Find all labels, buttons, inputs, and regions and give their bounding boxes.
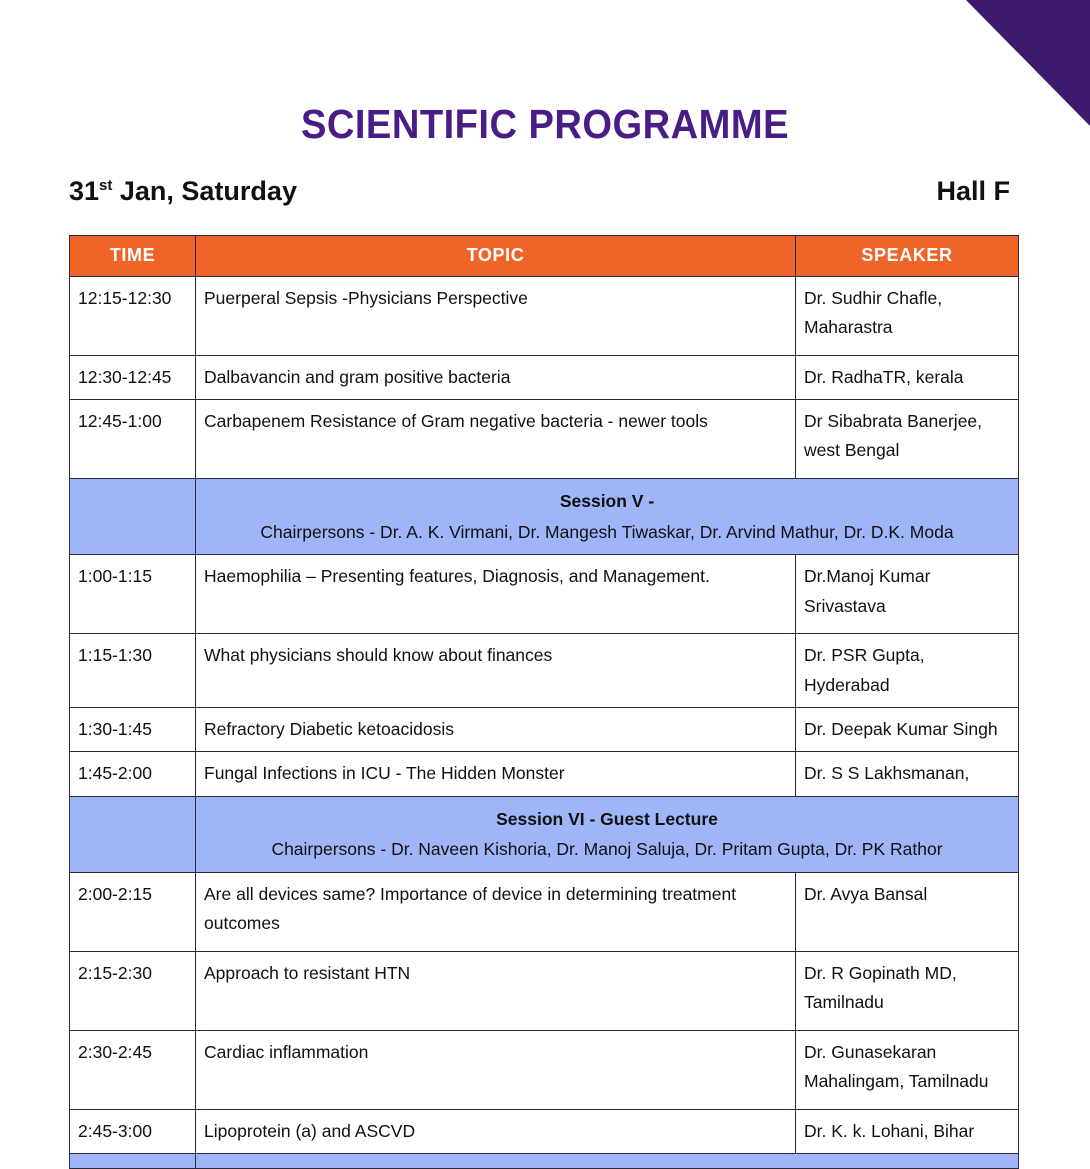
cell-speaker: Dr. Avya Bansal	[796, 873, 1019, 952]
table-row: 12:15-12:30 Puerperal Sepsis -Physicians…	[70, 276, 1019, 355]
table-row: 1:00-1:15 Haemophilia – Presenting featu…	[70, 555, 1019, 634]
session-banner-row-partial	[70, 1154, 1019, 1169]
scientific-programme-table: TIME TOPIC SPEAKER 12:15-12:30 Puerperal…	[69, 235, 1019, 1169]
cell-time: 2:30-2:45	[70, 1031, 196, 1110]
cell-time-empty	[70, 478, 196, 554]
cell-speaker: Dr. R Gopinath MD, Tamilnadu	[796, 952, 1019, 1031]
table-row: 1:45-2:00 Fungal Infections in ICU - The…	[70, 752, 1019, 796]
cell-topic: Haemophilia – Presenting features, Diagn…	[196, 555, 796, 634]
table-row: 2:30-2:45 Cardiac inflammation Dr. Gunas…	[70, 1031, 1019, 1110]
cell-speaker: Dr Sibabrata Banerjee, west Bengal	[796, 399, 1019, 478]
table-row: 12:45-1:00 Carbapenem Resistance of Gram…	[70, 399, 1019, 478]
table-body: 12:15-12:30 Puerperal Sepsis -Physicians…	[70, 276, 1019, 1169]
cell-topic: Cardiac inflammation	[196, 1031, 796, 1110]
subheader: 31st Jan, Saturday Hall F	[0, 148, 1090, 207]
session-title: Session V -	[204, 486, 1010, 517]
cell-topic: Are all devices same? Importance of devi…	[196, 873, 796, 952]
cell-time: 12:30-12:45	[70, 355, 196, 399]
cell-time: 1:45-2:00	[70, 752, 196, 796]
session-banner-row: Session V - Chairpersons - Dr. A. K. Vir…	[70, 478, 1019, 554]
hall-label: Hall F	[936, 176, 1010, 207]
cell-topic: Puerperal Sepsis -Physicians Perspective	[196, 276, 796, 355]
session-banner-partial	[196, 1154, 1019, 1169]
cell-speaker: Dr. S S Lakhsmanan,	[796, 752, 1019, 796]
session-banner: Session VI - Guest Lecture Chairpersons …	[196, 796, 1019, 872]
cell-speaker: Dr. Gunasekaran Mahalingam, Tamilnadu	[796, 1031, 1019, 1110]
cell-speaker: Dr. PSR Gupta, Hyderabad	[796, 634, 1019, 708]
table-row: 12:30-12:45 Dalbavancin and gram positiv…	[70, 355, 1019, 399]
cell-time: 1:30-1:45	[70, 708, 196, 752]
table-header-row: TIME TOPIC SPEAKER	[70, 236, 1019, 277]
cell-time: 2:00-2:15	[70, 873, 196, 952]
date-ordinal-suffix: st	[99, 177, 112, 194]
date-rest: Jan, Saturday	[112, 176, 297, 206]
date-day: 31	[69, 176, 99, 206]
table-row: 2:45-3:00 Lipoprotein (a) and ASCVD Dr. …	[70, 1110, 1019, 1154]
cell-time-empty	[70, 796, 196, 872]
cell-time: 2:15-2:30	[70, 952, 196, 1031]
cell-time: 1:00-1:15	[70, 555, 196, 634]
column-header-speaker: SPEAKER	[796, 236, 1019, 277]
cell-time: 2:45-3:00	[70, 1110, 196, 1154]
cell-speaker: Dr. Sudhir Chafle, Maharastra	[796, 276, 1019, 355]
session-banner-row: Session VI - Guest Lecture Chairpersons …	[70, 796, 1019, 872]
session-banner: Session V - Chairpersons - Dr. A. K. Vir…	[196, 478, 1019, 554]
cell-time: 12:45-1:00	[70, 399, 196, 478]
cell-topic: Fungal Infections in ICU - The Hidden Mo…	[196, 752, 796, 796]
cell-topic: What physicians should know about financ…	[196, 634, 796, 708]
cell-topic: Approach to resistant HTN	[196, 952, 796, 1031]
cell-speaker: Dr. RadhaTR, kerala	[796, 355, 1019, 399]
session-title: Session VI - Guest Lecture	[204, 804, 1010, 835]
table-row: 1:15-1:30 What physicians should know ab…	[70, 634, 1019, 708]
column-header-time: TIME	[70, 236, 196, 277]
cell-topic: Lipoprotein (a) and ASCVD	[196, 1110, 796, 1154]
cell-speaker: Dr.Manoj Kumar Srivastava	[796, 555, 1019, 634]
cell-topic: Carbapenem Resistance of Gram negative b…	[196, 399, 796, 478]
table-row: 2:15-2:30 Approach to resistant HTN Dr. …	[70, 952, 1019, 1031]
page-title: SCIENTIFIC PROGRAMME	[38, 0, 1052, 148]
table-row: 1:30-1:45 Refractory Diabetic ketoacidos…	[70, 708, 1019, 752]
cell-topic: Refractory Diabetic ketoacidosis	[196, 708, 796, 752]
programme-date: 31st Jan, Saturday	[69, 176, 297, 207]
table-row: 2:00-2:15 Are all devices same? Importan…	[70, 873, 1019, 952]
session-chairpersons: Chairpersons - Dr. A. K. Virmani, Dr. Ma…	[204, 517, 1010, 548]
session-chairpersons: Chairpersons - Dr. Naveen Kishoria, Dr. …	[204, 834, 1010, 865]
cell-time: 12:15-12:30	[70, 276, 196, 355]
cell-speaker: Dr. K. k. Lohani, Bihar	[796, 1110, 1019, 1154]
cell-time-empty	[70, 1154, 196, 1169]
cell-speaker: Dr. Deepak Kumar Singh	[796, 708, 1019, 752]
cell-topic: Dalbavancin and gram positive bacteria	[196, 355, 796, 399]
column-header-topic: TOPIC	[196, 236, 796, 277]
cell-time: 1:15-1:30	[70, 634, 196, 708]
